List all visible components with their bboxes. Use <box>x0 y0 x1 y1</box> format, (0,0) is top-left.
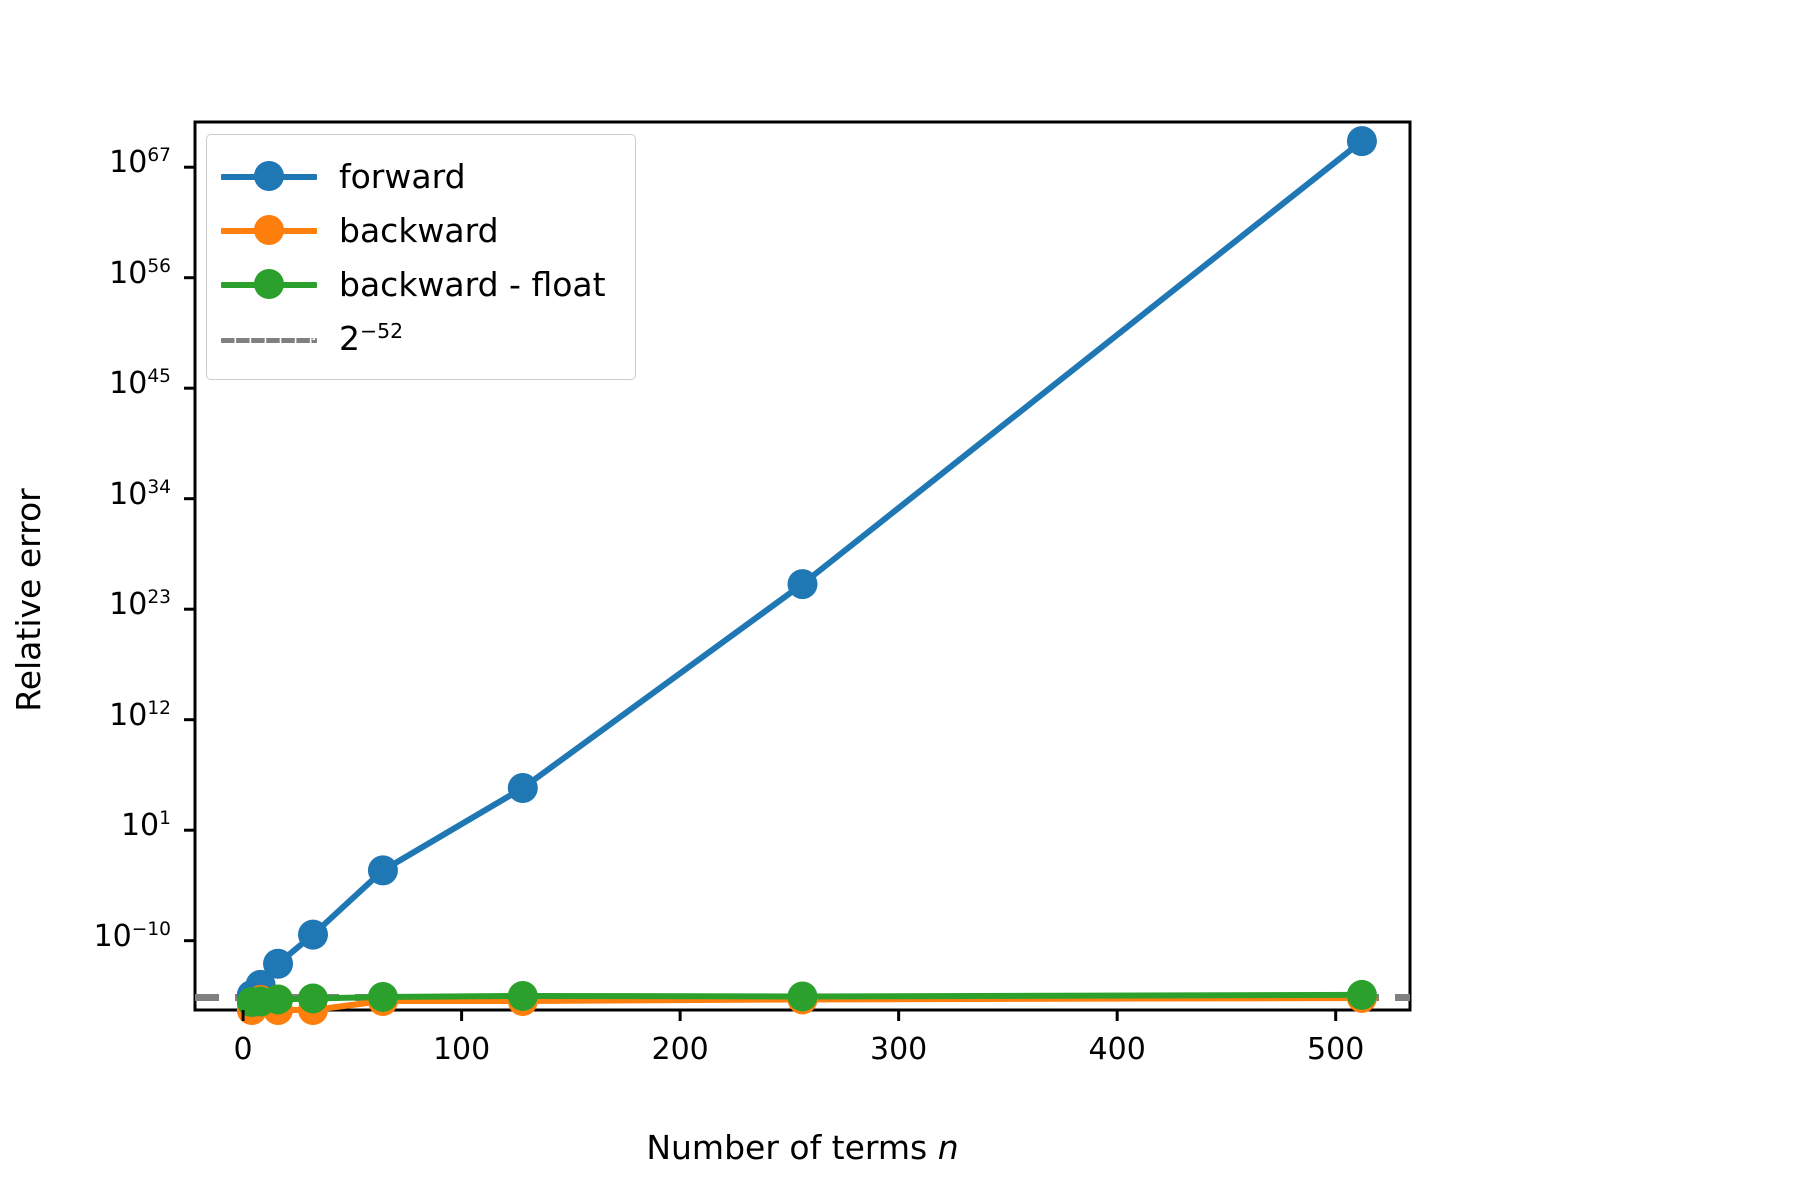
x-tick-label: 500 <box>1276 1032 1396 1067</box>
x-tick-label: 400 <box>1057 1032 1177 1067</box>
y-tick-label: 1067 <box>0 145 171 180</box>
legend-label-eps-exponent: −52 <box>360 319 403 343</box>
legend-key-backward-icon <box>221 215 317 245</box>
legend-entry-backward[interactable]: backward <box>221 203 619 257</box>
legend-label-backward: backward <box>339 214 499 247</box>
data-point-forward <box>508 773 538 803</box>
data-point-backward-float <box>508 981 538 1011</box>
legend-entry-forward[interactable]: forward <box>221 149 619 203</box>
x-tick-label: 100 <box>402 1032 522 1067</box>
data-point-backward-float <box>368 982 398 1012</box>
data-point-backward-float <box>1347 980 1377 1010</box>
figure-canvas: Relative error Number of terms n forward… <box>0 0 1800 1200</box>
y-tick-label: 10−10 <box>0 919 171 954</box>
legend-entry-eps[interactable]: 2−52 <box>221 311 619 365</box>
y-tick-label: 1034 <box>0 477 171 512</box>
legend-key-forward-icon <box>221 161 317 191</box>
legend-key-eps-dashed-icon <box>221 323 317 353</box>
legend: forward backward backward - float 2−52 <box>206 134 636 380</box>
legend-label-eps: 2−52 <box>339 322 403 355</box>
data-point-forward <box>1347 126 1377 156</box>
data-point-backward-float <box>263 984 293 1014</box>
x-axis-label-text: Number of terms <box>646 1128 937 1167</box>
data-point-forward <box>263 949 293 979</box>
y-tick-label: 1012 <box>0 698 171 733</box>
x-axis-label-symbol: n <box>938 1128 959 1167</box>
legend-key-backward-float-icon <box>221 269 317 299</box>
y-tick-label: 101 <box>0 808 171 843</box>
legend-label-forward: forward <box>339 160 466 193</box>
data-point-backward-float <box>298 983 328 1013</box>
y-tick-label: 1056 <box>0 256 171 291</box>
x-tick-label: 300 <box>839 1032 959 1067</box>
data-point-backward-float <box>788 981 818 1011</box>
data-point-forward <box>788 569 818 599</box>
legend-label-backward-float: backward - float <box>339 268 606 301</box>
x-tick-label: 200 <box>620 1032 740 1067</box>
y-tick-label: 1045 <box>0 366 171 401</box>
y-tick-label: 1023 <box>0 587 171 622</box>
x-axis-label: Number of terms n <box>195 1128 1410 1167</box>
data-point-forward <box>298 920 328 950</box>
legend-entry-backward-float[interactable]: backward - float <box>221 257 619 311</box>
data-point-forward <box>368 855 398 885</box>
x-tick-label: 0 <box>183 1032 303 1067</box>
